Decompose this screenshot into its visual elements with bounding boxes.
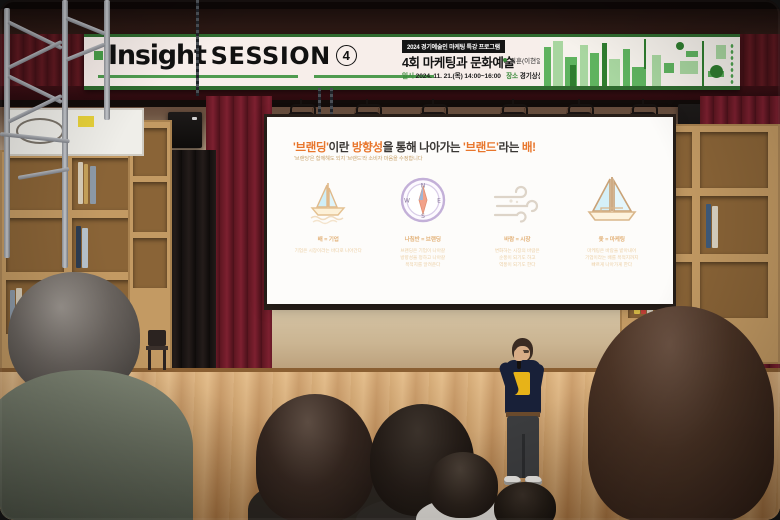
slide-title-part4: 을 통해 나아가는 xyxy=(383,141,463,154)
slide-col2-line3: 목적지를 알려준다 xyxy=(405,261,440,268)
slide-title: '브랜딩'이란 방향성을 통해 나아가는 '브랜드'라는 배! xyxy=(293,139,536,155)
banner-bottom-rule xyxy=(84,86,740,90)
curtain-left-dark xyxy=(168,150,216,402)
presenter xyxy=(495,338,551,498)
slide-column-1: 배 = 기업 기업은 시장이라는 바다로 나아간다 xyxy=(281,173,376,268)
banner-graphic-art xyxy=(540,37,740,86)
audience-head-long-hair xyxy=(256,394,374,520)
audience-shoulders-left xyxy=(0,370,193,520)
slide-title-part5: '브랜드' xyxy=(463,141,499,154)
slide-col1-line1: 기업은 시장이라는 바다로 나아간다 xyxy=(295,247,362,254)
compass-icon: N S E W xyxy=(398,173,448,225)
slide-columns: 배 = 기업 기업은 시장이라는 바다로 나아간다 N S E W xyxy=(281,173,659,268)
slide-subtitle: '브랜딩'은 함께해도 되지 '브랜드'라 소비자 마음을 수정합니다 xyxy=(294,155,422,162)
slide-col2-line2: 방향성을 정하고 나아갈 xyxy=(400,254,445,261)
slide-col3-line1: 변화하는 시장의 바람은 xyxy=(495,247,540,254)
sailboat-large-icon xyxy=(583,173,641,225)
slide-col2-heading: 나침반 = 브랜딩 xyxy=(405,235,441,243)
slide-col4-line1: 마케팅은 바람을 받아내어 xyxy=(587,247,636,254)
audience-head-right-brown xyxy=(588,306,774,520)
bullet-dot-icon xyxy=(503,58,507,62)
presenter-hand xyxy=(514,349,524,361)
svg-text:N: N xyxy=(421,183,426,190)
svg-text:W: W xyxy=(404,198,410,205)
slide-col4-line3: 빠르게 나아가게 한다 xyxy=(591,261,632,268)
wind-icon xyxy=(491,173,543,225)
slide-col4-heading: 돛 = 마케팅 xyxy=(599,235,625,243)
banner-logo-insight: Insight xyxy=(108,42,206,69)
scaffold-truss xyxy=(0,0,120,300)
banner-headline: 4회 마케팅과 문화예술 xyxy=(402,52,515,71)
slide-column-4: 돛 = 마케팅 마케팅은 바람을 받아내어 기업이라는 배를 목적지까지 빠르게… xyxy=(565,173,660,268)
slide-col1-heading: 배 = 기업 xyxy=(318,235,339,243)
event-banner: Insight SESSION 4 2024 경기예술인 마케팅 특강 프로그램… xyxy=(84,34,740,90)
slide-title-part1: '브랜딩' xyxy=(293,141,329,154)
banner-date-label: 일시 xyxy=(402,73,414,80)
slide-col3-line3: 역풍이 되기도 한다 xyxy=(499,261,535,268)
banner-date-value: 2024. 11. 21.(목) 14:00~16:00 xyxy=(416,73,501,80)
audience-head-child xyxy=(428,452,498,518)
slide-title-part7: 배! xyxy=(522,141,536,154)
slide-title-part3: 방향성 xyxy=(352,141,383,154)
slide-column-3: 바람 = 시장 변화하는 시장의 바람은 순풍이 되기도 하고 역풍이 되기도 … xyxy=(470,173,565,268)
banner-venue-label: 장소 xyxy=(506,73,518,80)
slide-col3-line2: 순풍이 되기도 하고 xyxy=(499,254,535,261)
sailboat-waves-icon xyxy=(303,173,353,225)
projection-screen: '브랜딩'이란 방향성을 통해 나아가는 '브랜드'라는 배! '브랜딩'은 함… xyxy=(267,117,673,304)
svg-text:S: S xyxy=(421,213,425,220)
slide-title-part6: 라는 xyxy=(499,141,522,154)
banner-logo-session: SESSION xyxy=(211,44,331,68)
session-number-badge: 4 xyxy=(336,45,357,66)
banner-logo: Insight SESSION 4 xyxy=(94,42,357,69)
slide-col2-line1: 브랜딩은 기업이 나아갈 xyxy=(400,247,445,254)
slide-col3-heading: 바람 = 시장 xyxy=(504,235,530,243)
slide-col4-line2: 기업이라는 배를 목적지까지 xyxy=(585,254,638,261)
speaker-left xyxy=(168,112,202,148)
presenter-leg-gap xyxy=(522,434,525,478)
chair-left xyxy=(146,330,168,370)
slide-column-2: N S E W 나침반 = 브랜딩 브랜딩은 기업이 나아갈 방향성을 정하고 … xyxy=(376,173,471,268)
slide-title-part2: 이란 xyxy=(329,141,352,154)
photo-scene: Insight SESSION 4 2024 경기예술인 마케팅 특강 프로그램… xyxy=(0,0,780,520)
svg-text:E: E xyxy=(437,198,441,205)
